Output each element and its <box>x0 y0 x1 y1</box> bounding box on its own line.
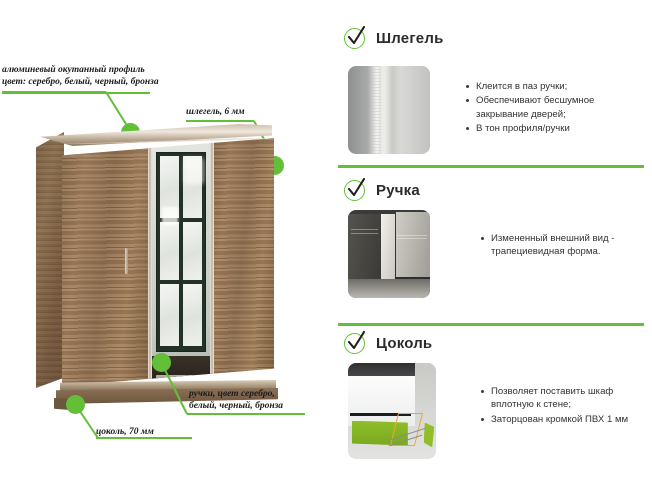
list-item: Заторцован кромкой ПВХ 1 мм <box>480 413 650 426</box>
list-item: В тон профиля/ручки <box>465 122 640 135</box>
wardrobe-doors <box>62 138 274 386</box>
section-divider-2 <box>338 323 644 326</box>
callout-plinth-leader <box>64 400 194 446</box>
check-circle-icon <box>344 180 365 201</box>
wardrobe-side-panel <box>36 132 64 388</box>
callout-handles-underline <box>187 413 305 415</box>
callout-plinth-underline <box>96 437 192 439</box>
handle-floor <box>348 279 430 298</box>
door-right-wood <box>212 138 274 386</box>
handle-light-door <box>396 212 430 277</box>
feature-header-shlegel: Шлегель <box>344 28 444 49</box>
list-item: Обеспечивают бесшумное закрывание дверей… <box>465 94 640 121</box>
door-middle-mirror <box>150 138 212 386</box>
door-handle <box>125 248 128 274</box>
feature-bullets-shlegel: Клеится в паз ручки; Обеспечивают бесшум… <box>465 80 640 137</box>
check-circle-icon <box>344 28 365 49</box>
list-item: Клеится в паз ручки; <box>465 80 640 93</box>
callout-handles-label: ручки, цвет серебро, белый, черный, брон… <box>189 388 334 412</box>
wardrobe-diagram: алюминевый окутанный профиль цвет: сереб… <box>0 0 330 500</box>
door-left-wood <box>62 138 150 386</box>
plinth-photo <box>348 363 436 459</box>
handle-dark-door <box>348 214 381 281</box>
feature-title-plinth: Цоколь <box>376 335 432 352</box>
handle-profile-post <box>381 214 395 284</box>
features-panel: Шлегель Клеится в паз ручки; Обеспечиваю… <box>330 0 652 500</box>
door-edge-right <box>210 138 214 386</box>
shlegel-photo <box>348 66 430 154</box>
feature-bullets-handle: Измененный внешний вид - трапециевидная … <box>480 232 645 260</box>
feature-title-shlegel: Шлегель <box>376 30 444 47</box>
callout-profile-label: алюминевый окутанный профиль цвет: сереб… <box>2 64 182 88</box>
list-item: Позволяет поставить шкаф вплотную к стен… <box>480 385 650 412</box>
brush-seal-strip <box>373 66 381 154</box>
mirror-highlight-secondary <box>184 158 204 184</box>
list-item: Измененный внешний вид - трапециевидная … <box>480 232 645 259</box>
mirror-highlight <box>162 207 178 225</box>
check-circle-icon <box>344 333 365 354</box>
feature-title-handle: Ручка <box>376 182 420 199</box>
feature-header-handle: Ручка <box>344 180 420 201</box>
plinth-green-detail <box>424 423 435 448</box>
slide-root: алюминевый окутанный профиль цвет: сереб… <box>0 0 652 500</box>
handle-photo <box>348 210 430 298</box>
feature-bullets-plinth: Позволяет поставить шкаф вплотную к стен… <box>480 385 650 427</box>
feature-header-plinth: Цоколь <box>344 333 432 354</box>
section-divider-1 <box>338 165 644 168</box>
door-edge-left <box>148 138 152 386</box>
mirror-surface <box>150 138 212 386</box>
